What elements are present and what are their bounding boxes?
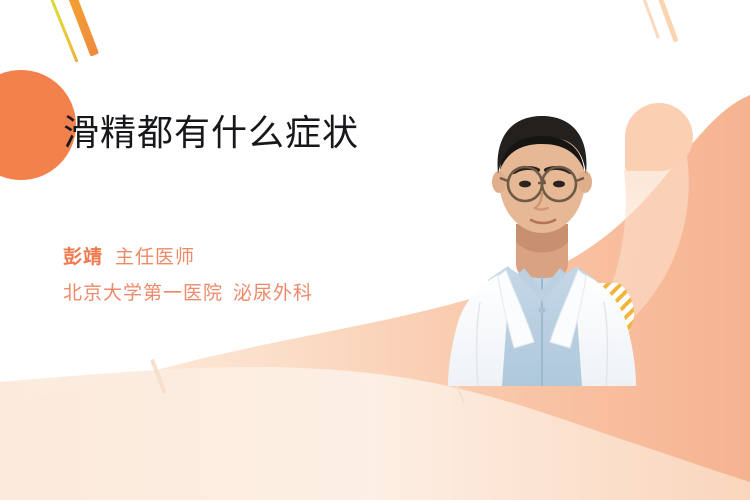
doctor-department: 泌尿外科 xyxy=(233,283,313,304)
diagonal-stroke-bottomleft-icon xyxy=(150,359,167,394)
doctor-name-line: 彭靖主任医师 xyxy=(63,246,463,270)
doctor-credentials: 彭靖主任医师 北京大学第一医院泌尿外科 xyxy=(63,246,463,306)
headline-block: 滑精都有什么症状 xyxy=(63,110,463,156)
doctor-affiliation-line: 北京大学第一医院泌尿外科 xyxy=(63,282,463,306)
diagonal-stroke-topright-a-icon xyxy=(640,0,660,39)
diagonal-stroke-orange-icon xyxy=(62,0,99,57)
diagonal-stroke-topright-b-icon xyxy=(654,0,679,43)
diagonal-stroke-green-icon xyxy=(48,0,79,63)
doctor-portrait xyxy=(438,96,646,386)
doctor-hospital: 北京大学第一医院 xyxy=(63,283,223,304)
doctor-title: 主任医师 xyxy=(115,247,195,268)
video-cover-card: 滑精都有什么症状 彭靖主任医师 北京大学第一医院泌尿外科 xyxy=(0,0,750,500)
doctor-name: 彭靖 xyxy=(63,247,103,268)
page-title: 滑精都有什么症状 xyxy=(63,110,463,156)
